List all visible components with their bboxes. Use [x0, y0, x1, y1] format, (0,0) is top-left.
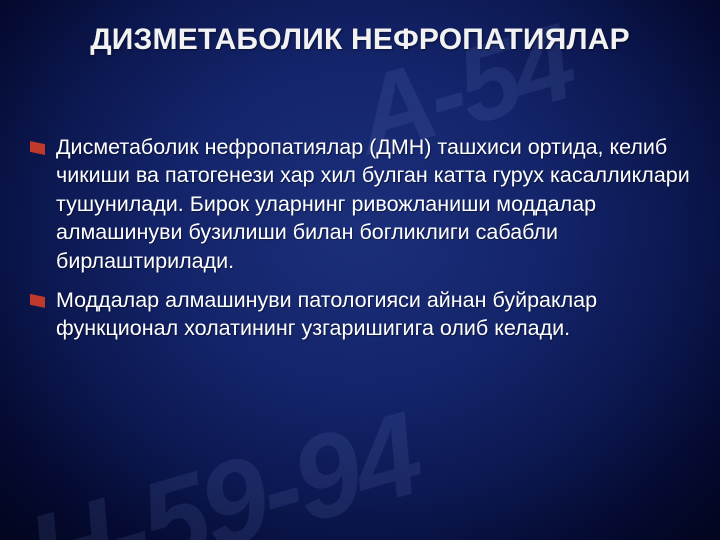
bullet-marker-icon	[28, 138, 50, 160]
watermark-bottom: Н-59-94	[13, 386, 433, 540]
paragraph-text: Дисметаболик нефропатиялар (ДМН) ташхиси…	[56, 132, 700, 275]
bullet-paragraph: Дисметаболик нефропатиялар (ДМН) ташхиси…	[28, 132, 700, 275]
presentation-slide: А-54 Н-59-94 ДИЗМЕТАБОЛИК НЕФРОПАТИЯЛАР …	[0, 0, 720, 540]
paragraph-text: Моддалар алмашинуви патологияси айнан бу…	[56, 285, 700, 343]
bullet-marker-icon	[28, 291, 50, 313]
slide-body: Дисметаболик нефропатиялар (ДМН) ташхиси…	[28, 132, 700, 353]
bullet-paragraph: Моддалар алмашинуви патологияси айнан бу…	[28, 285, 700, 343]
slide-title: ДИЗМЕТАБОЛИК НЕФРОПАТИЯЛАР	[50, 22, 670, 59]
